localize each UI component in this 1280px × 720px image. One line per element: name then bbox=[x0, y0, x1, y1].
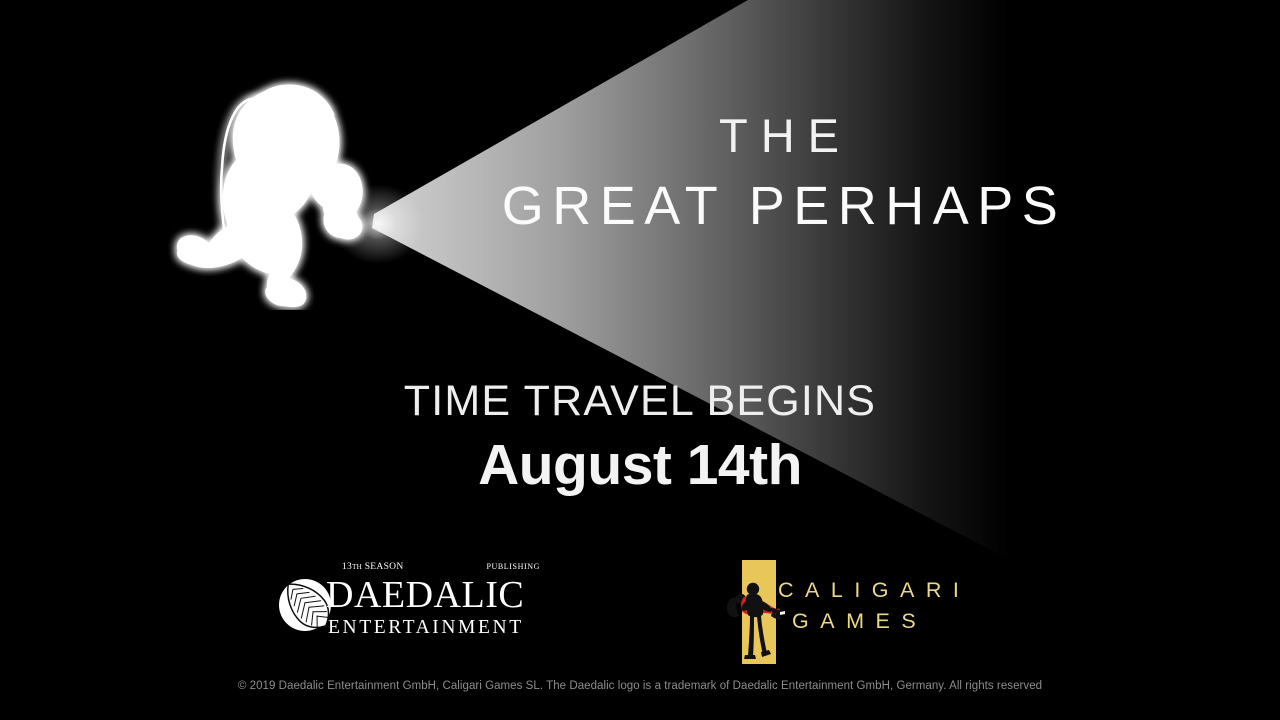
daedalic-publishing-label: PUBLISHING bbox=[486, 562, 540, 571]
caligari-text-block: CALIGARI GAMES bbox=[778, 580, 992, 632]
astronaut-silhouette bbox=[160, 40, 400, 310]
title-line-1: THE bbox=[420, 112, 1120, 159]
copyright-notice: © 2019 Daedalic Entertainment GmbH, Cali… bbox=[0, 680, 1280, 692]
daedalic-text-block: 13TH SEASON PUBLISHING DAEDALIC ENTERTAI… bbox=[324, 562, 542, 638]
release-date: August 14th bbox=[0, 437, 1280, 494]
release-info: TIME TRAVEL BEGINS August 14th bbox=[0, 380, 1280, 494]
title-card: THE GREAT PERHAPS TIME TRAVEL BEGINS Aug… bbox=[0, 0, 1280, 720]
daedalic-entertainment-logo: 13TH SEASON PUBLISHING DAEDALIC ENTERTAI… bbox=[272, 562, 542, 648]
daedalic-subtitle: ENTERTAINMENT bbox=[324, 618, 542, 638]
page-title: THE GREAT PERHAPS bbox=[420, 112, 1120, 233]
caligari-wordmark-line-1: CALIGARI bbox=[778, 580, 992, 602]
logo-row: 13TH SEASON PUBLISHING DAEDALIC ENTERTAI… bbox=[0, 548, 1280, 668]
daedalic-top-row: 13TH SEASON PUBLISHING bbox=[324, 562, 542, 575]
release-kicker: TIME TRAVEL BEGINS bbox=[0, 380, 1280, 423]
caligari-wordmark-line-2: GAMES bbox=[778, 611, 992, 633]
caligari-games-logo: CALIGARI GAMES bbox=[712, 552, 992, 668]
daedalic-wordmark: DAEDALIC bbox=[324, 576, 542, 614]
man-carrying-woman-icon bbox=[720, 552, 786, 668]
title-line-2: GREAT PERHAPS bbox=[420, 179, 1120, 233]
daedalic-season-label: 13TH SEASON bbox=[342, 562, 403, 572]
